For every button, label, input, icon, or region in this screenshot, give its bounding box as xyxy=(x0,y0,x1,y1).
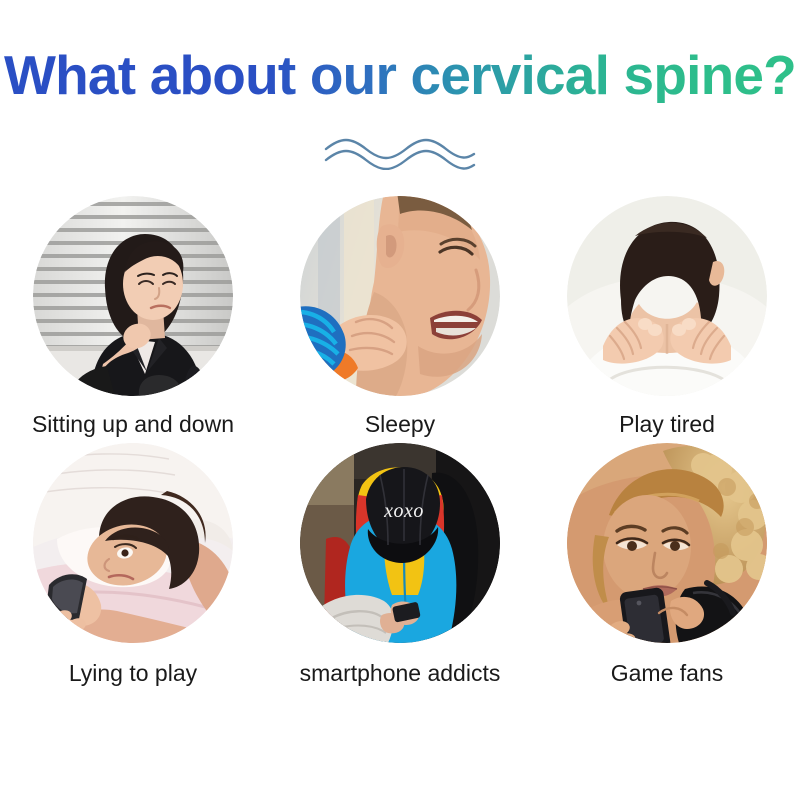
caption-play-tired: Play tired xyxy=(619,412,715,437)
photo-play-tired xyxy=(567,196,767,396)
photo-game-fans xyxy=(567,443,767,643)
symptom-item-smartphone-addicts: xoxo smartphone addicts xyxy=(271,443,529,686)
caption-smartphone-addicts: smartphone addicts xyxy=(300,661,501,686)
wavy-lines-icon xyxy=(320,136,480,170)
symptom-item-play-tired: Play tired xyxy=(538,196,796,437)
page-title-container: What about our cervical spine? xyxy=(0,48,800,103)
page-title: What about our cervical spine? xyxy=(4,48,796,103)
symptom-grid: Sitting up and down xyxy=(0,196,800,687)
divider-container xyxy=(0,136,800,170)
symptom-row-1: Sitting up and down xyxy=(0,196,800,437)
symptom-item-sitting-up-and-down: Sitting up and down xyxy=(4,196,262,437)
caption-lying-to-play: Lying to play xyxy=(69,661,197,686)
photo-sleepy xyxy=(300,196,500,396)
photo-lying-to-play xyxy=(33,443,233,643)
photo-smartphone-addicts: xoxo xyxy=(300,443,500,643)
svg-text:xoxo: xoxo xyxy=(383,500,424,522)
caption-game-fans: Game fans xyxy=(611,661,724,686)
caption-sitting-up-and-down: Sitting up and down xyxy=(32,412,234,437)
symptom-row-2: Lying to play xyxy=(0,443,800,686)
symptom-item-game-fans: Game fans xyxy=(538,443,796,686)
photo-sitting-up-and-down xyxy=(33,196,233,396)
caption-sleepy: Sleepy xyxy=(365,412,435,437)
symptom-item-sleepy: Sleepy xyxy=(271,196,529,437)
symptom-item-lying-to-play: Lying to play xyxy=(4,443,262,686)
